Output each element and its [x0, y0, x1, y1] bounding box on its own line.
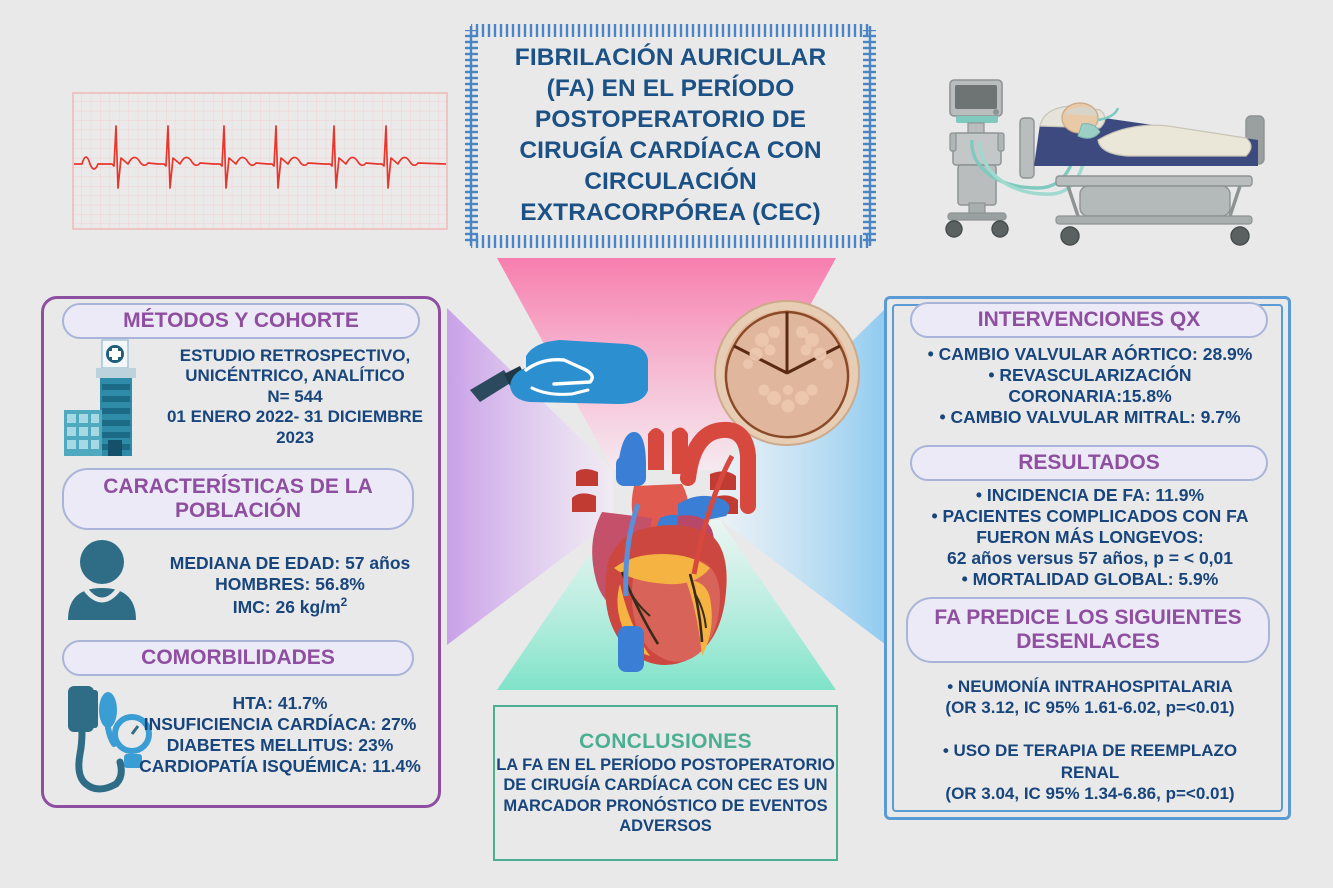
anatomical-heart-graphic	[560, 412, 790, 684]
infographic-canvas: FIBRILACIÓN AURICULAR (FA) EN EL PERÍODO…	[0, 0, 1333, 888]
section-header-intervenciones: INTERVENCIONES QX	[910, 302, 1268, 338]
title-box: FIBRILACIÓN AURICULAR (FA) EN EL PERÍODO…	[463, 22, 878, 250]
caracteristicas-text: MEDIANA DE EDAD: 57 años HOMBRES: 56.8% …	[140, 553, 440, 618]
section-header-caracteristicas: CARACTERÍSTICAS DE LA POBLACIÓN	[62, 468, 414, 530]
resultados-text: • INCIDENCIA DE FA: 11.9% • PACIENTES CO…	[900, 485, 1280, 590]
spacer-line	[898, 719, 1282, 740]
conclusions-title: CONCLUSIONES	[579, 730, 752, 754]
conclusions-box: CONCLUSIONES LA FA EN EL PERÍODO POSTOPE…	[493, 705, 838, 861]
comorbilidades-text: HTA: 41.7% INSUFICIENCIA CARDÍACA: 27% D…	[120, 693, 440, 777]
fa-predice-text: • NEUMONÍA INTRAHOSPITALARIA (OR 3.12, I…	[898, 676, 1282, 804]
section-header-resultados: RESULTADOS	[910, 445, 1268, 481]
conclusions-body: LA FA EN EL PERÍODO POSTOPERATORIO DE CI…	[495, 755, 836, 836]
metodos-text: ESTUDIO RETROSPECTIVO, UNICÉNTRICO, ANAL…	[150, 346, 440, 448]
intervenciones-text: • CAMBIO VALVULAR AÓRTICO: 28.9% • REVAS…	[900, 344, 1280, 428]
gloved-hand-with-scalpel-graphic	[468, 308, 683, 428]
ecg-strip-graphic	[72, 92, 448, 230]
patient-on-ventilator-bed-graphic	[928, 48, 1280, 253]
imc-line: IMC: 26 kg/m2	[140, 595, 440, 618]
person-icon	[64, 538, 140, 620]
section-header-comorbilidades: COMORBILIDADES	[62, 640, 414, 676]
page-title: FIBRILACIÓN AURICULAR (FA) EN EL PERÍODO…	[463, 43, 878, 228]
section-header-fa-predice: FA PREDICE LOS SIGUIENTES DESENLACES	[906, 597, 1270, 663]
section-header-metodos: MÉTODOS Y COHORTE	[62, 303, 420, 339]
